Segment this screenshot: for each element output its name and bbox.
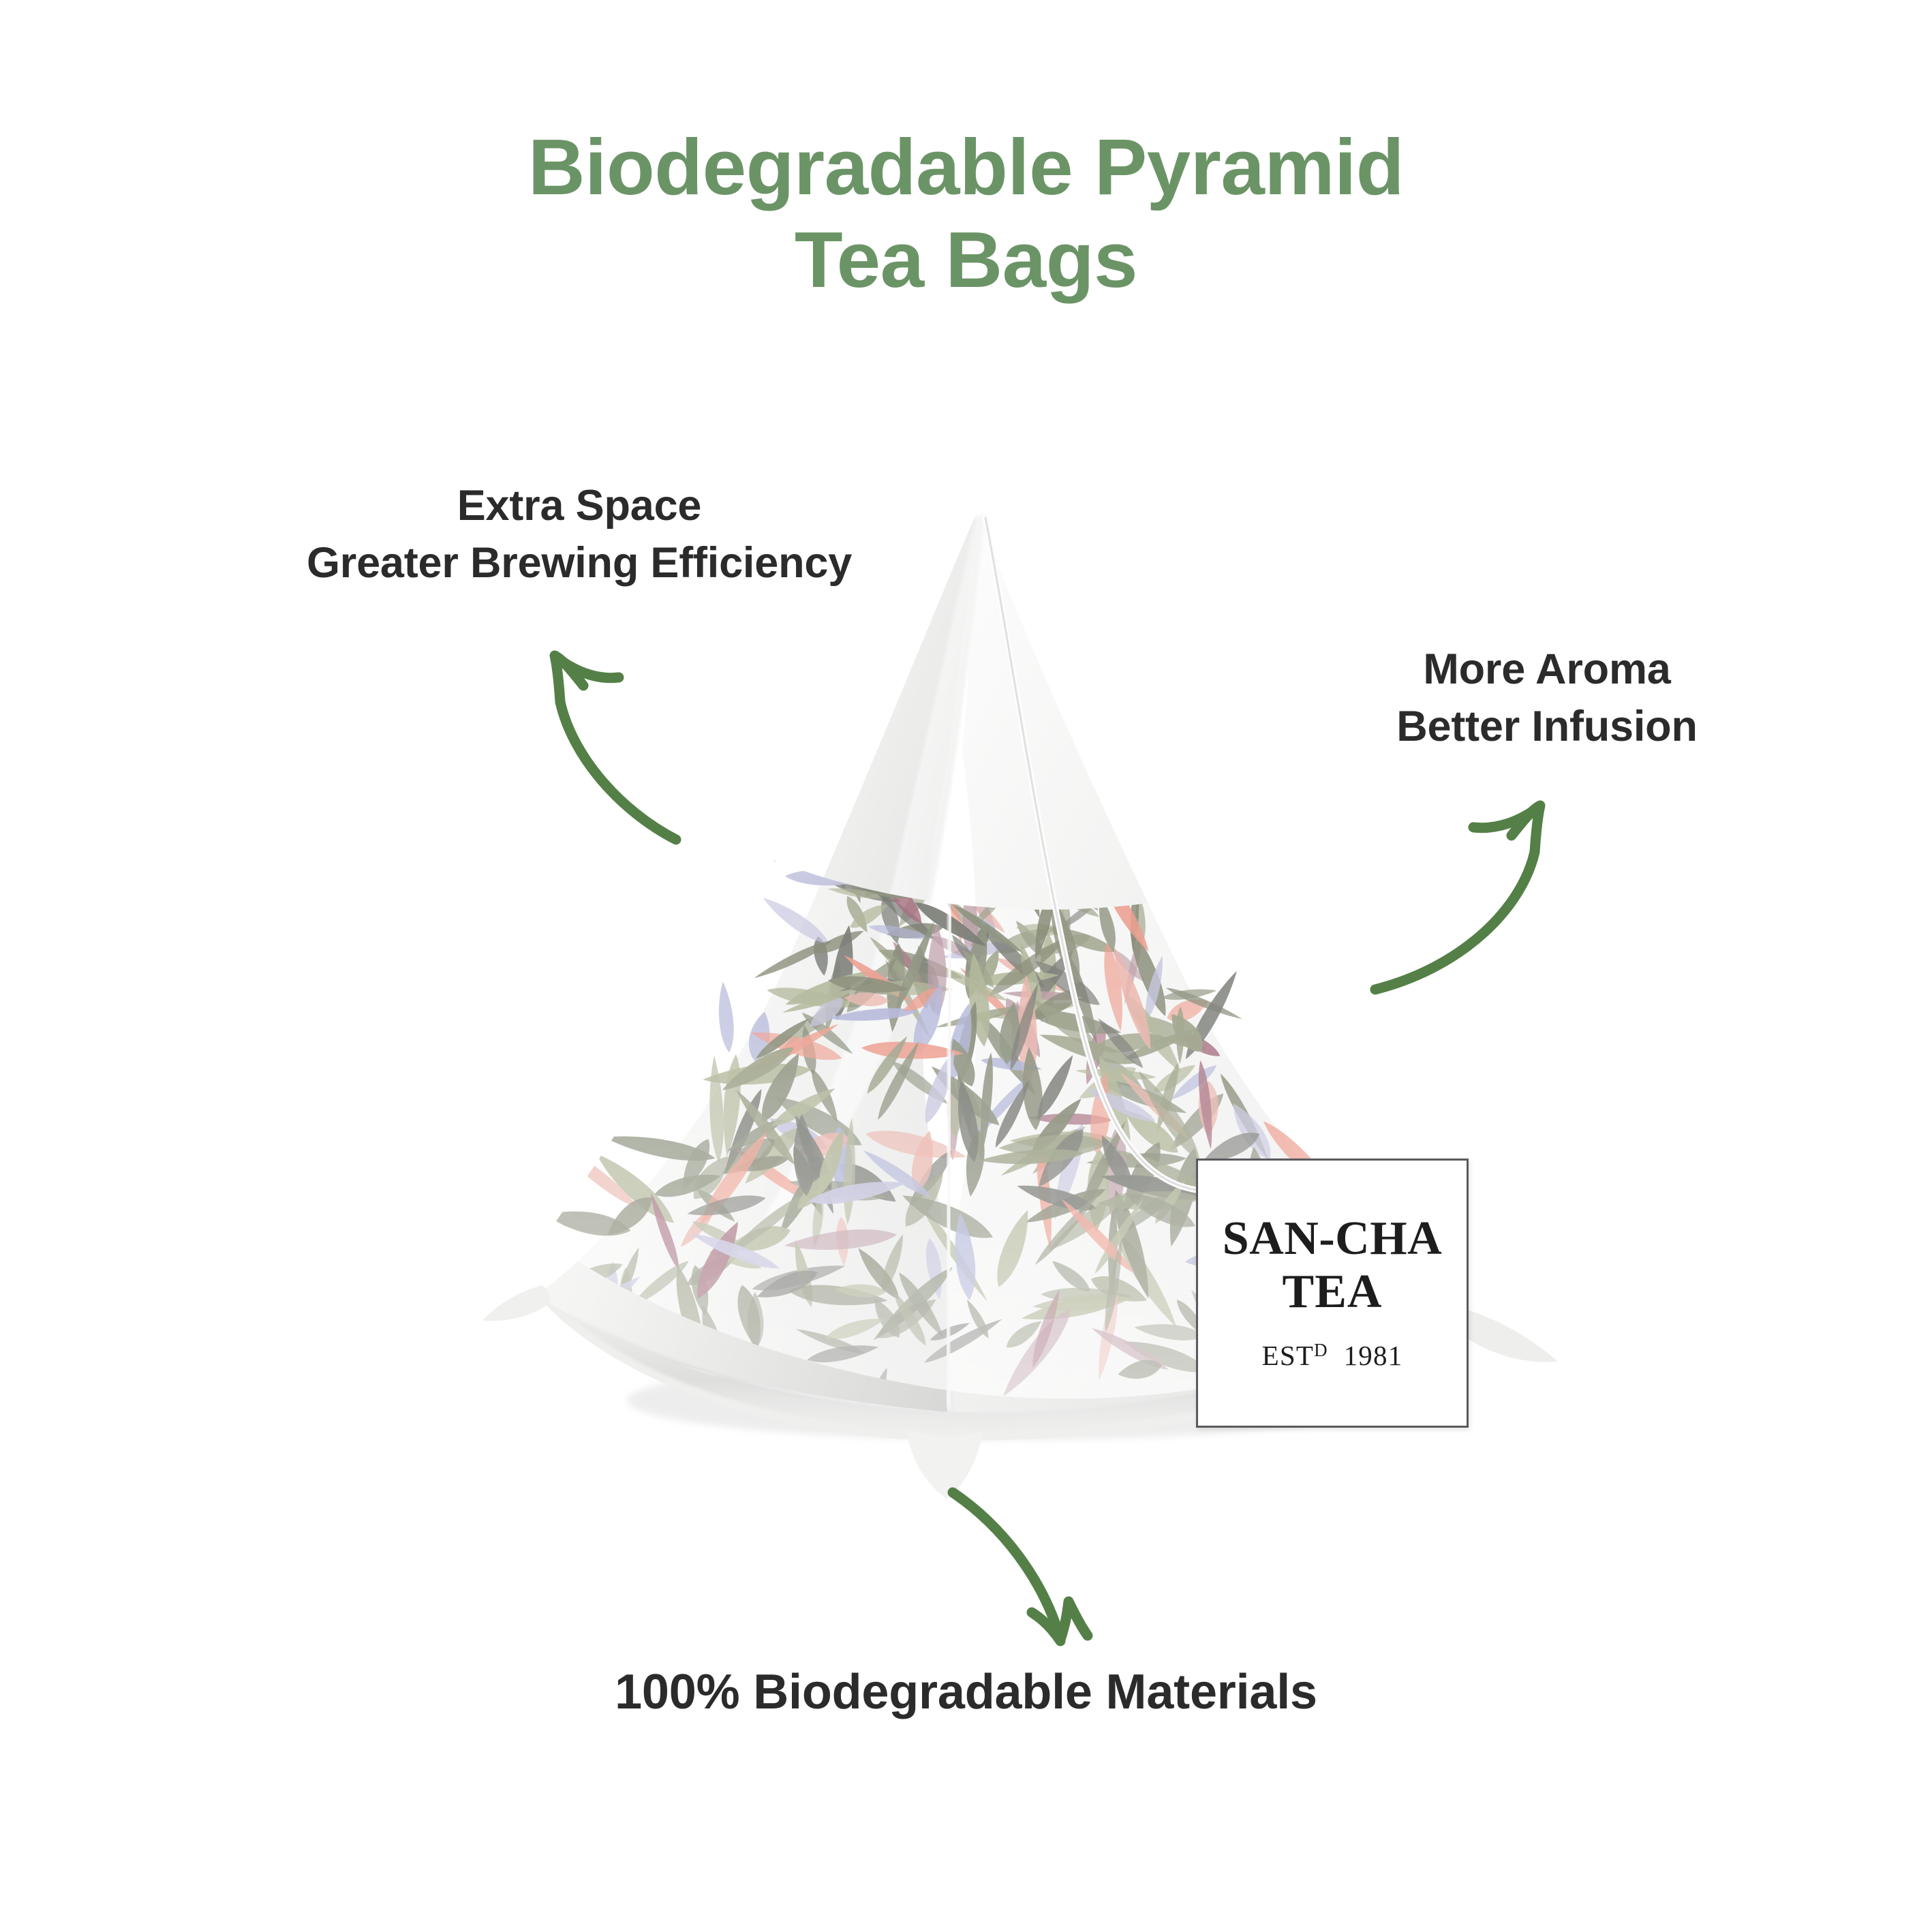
title-line-2: Tea Bags [0, 214, 1932, 307]
tea-leaf [942, 883, 978, 898]
callout-more-aroma: More Aroma Better Infusion [1315, 641, 1779, 756]
tea-leaf [475, 1322, 545, 1376]
bag-corner-tab-left [482, 1285, 550, 1321]
established-prefix: EST [1262, 1339, 1315, 1372]
established-year: 1981 [1344, 1339, 1403, 1372]
infographic-canvas: Biodegradable Pyramid Tea Bags [0, 0, 1932, 1932]
callout-right-line-1: More Aroma [1315, 641, 1779, 698]
curved-arrow-up-left-icon [525, 600, 750, 845]
label-brand-line-2: TEA [1283, 1268, 1383, 1316]
tea-leaf [532, 1336, 569, 1433]
bag-corner-tab-right [1460, 1310, 1558, 1362]
label-established: ESTD1981 [1262, 1339, 1403, 1372]
curved-arrow-down-icon [940, 1486, 1186, 1676]
page-title: Biodegradable Pyramid Tea Bags [0, 121, 1932, 306]
callout-extra-space: Extra Space Greater Brewing Efficiency [204, 477, 954, 592]
callout-left-line-1: Extra Space [204, 477, 954, 534]
callout-left-line-2: Greater Brewing Efficiency [204, 534, 954, 592]
curved-arrow-up-right-icon [1356, 750, 1581, 995]
tea-leaf [544, 1355, 622, 1377]
callout-right-line-2: Better Infusion [1315, 698, 1779, 755]
callout-bottom-line-1: 100% Biodegradable Materials [0, 1659, 1932, 1725]
callout-biodegradable-materials: 100% Biodegradable Materials [0, 1659, 1932, 1725]
title-line-1: Biodegradable Pyramid [0, 121, 1932, 214]
brand-label-tag: SAN-CHA TEA ESTD1981 [1196, 1159, 1469, 1428]
label-brand-line-1: SAN-CHA [1223, 1214, 1442, 1263]
established-superscript: D [1314, 1340, 1328, 1361]
